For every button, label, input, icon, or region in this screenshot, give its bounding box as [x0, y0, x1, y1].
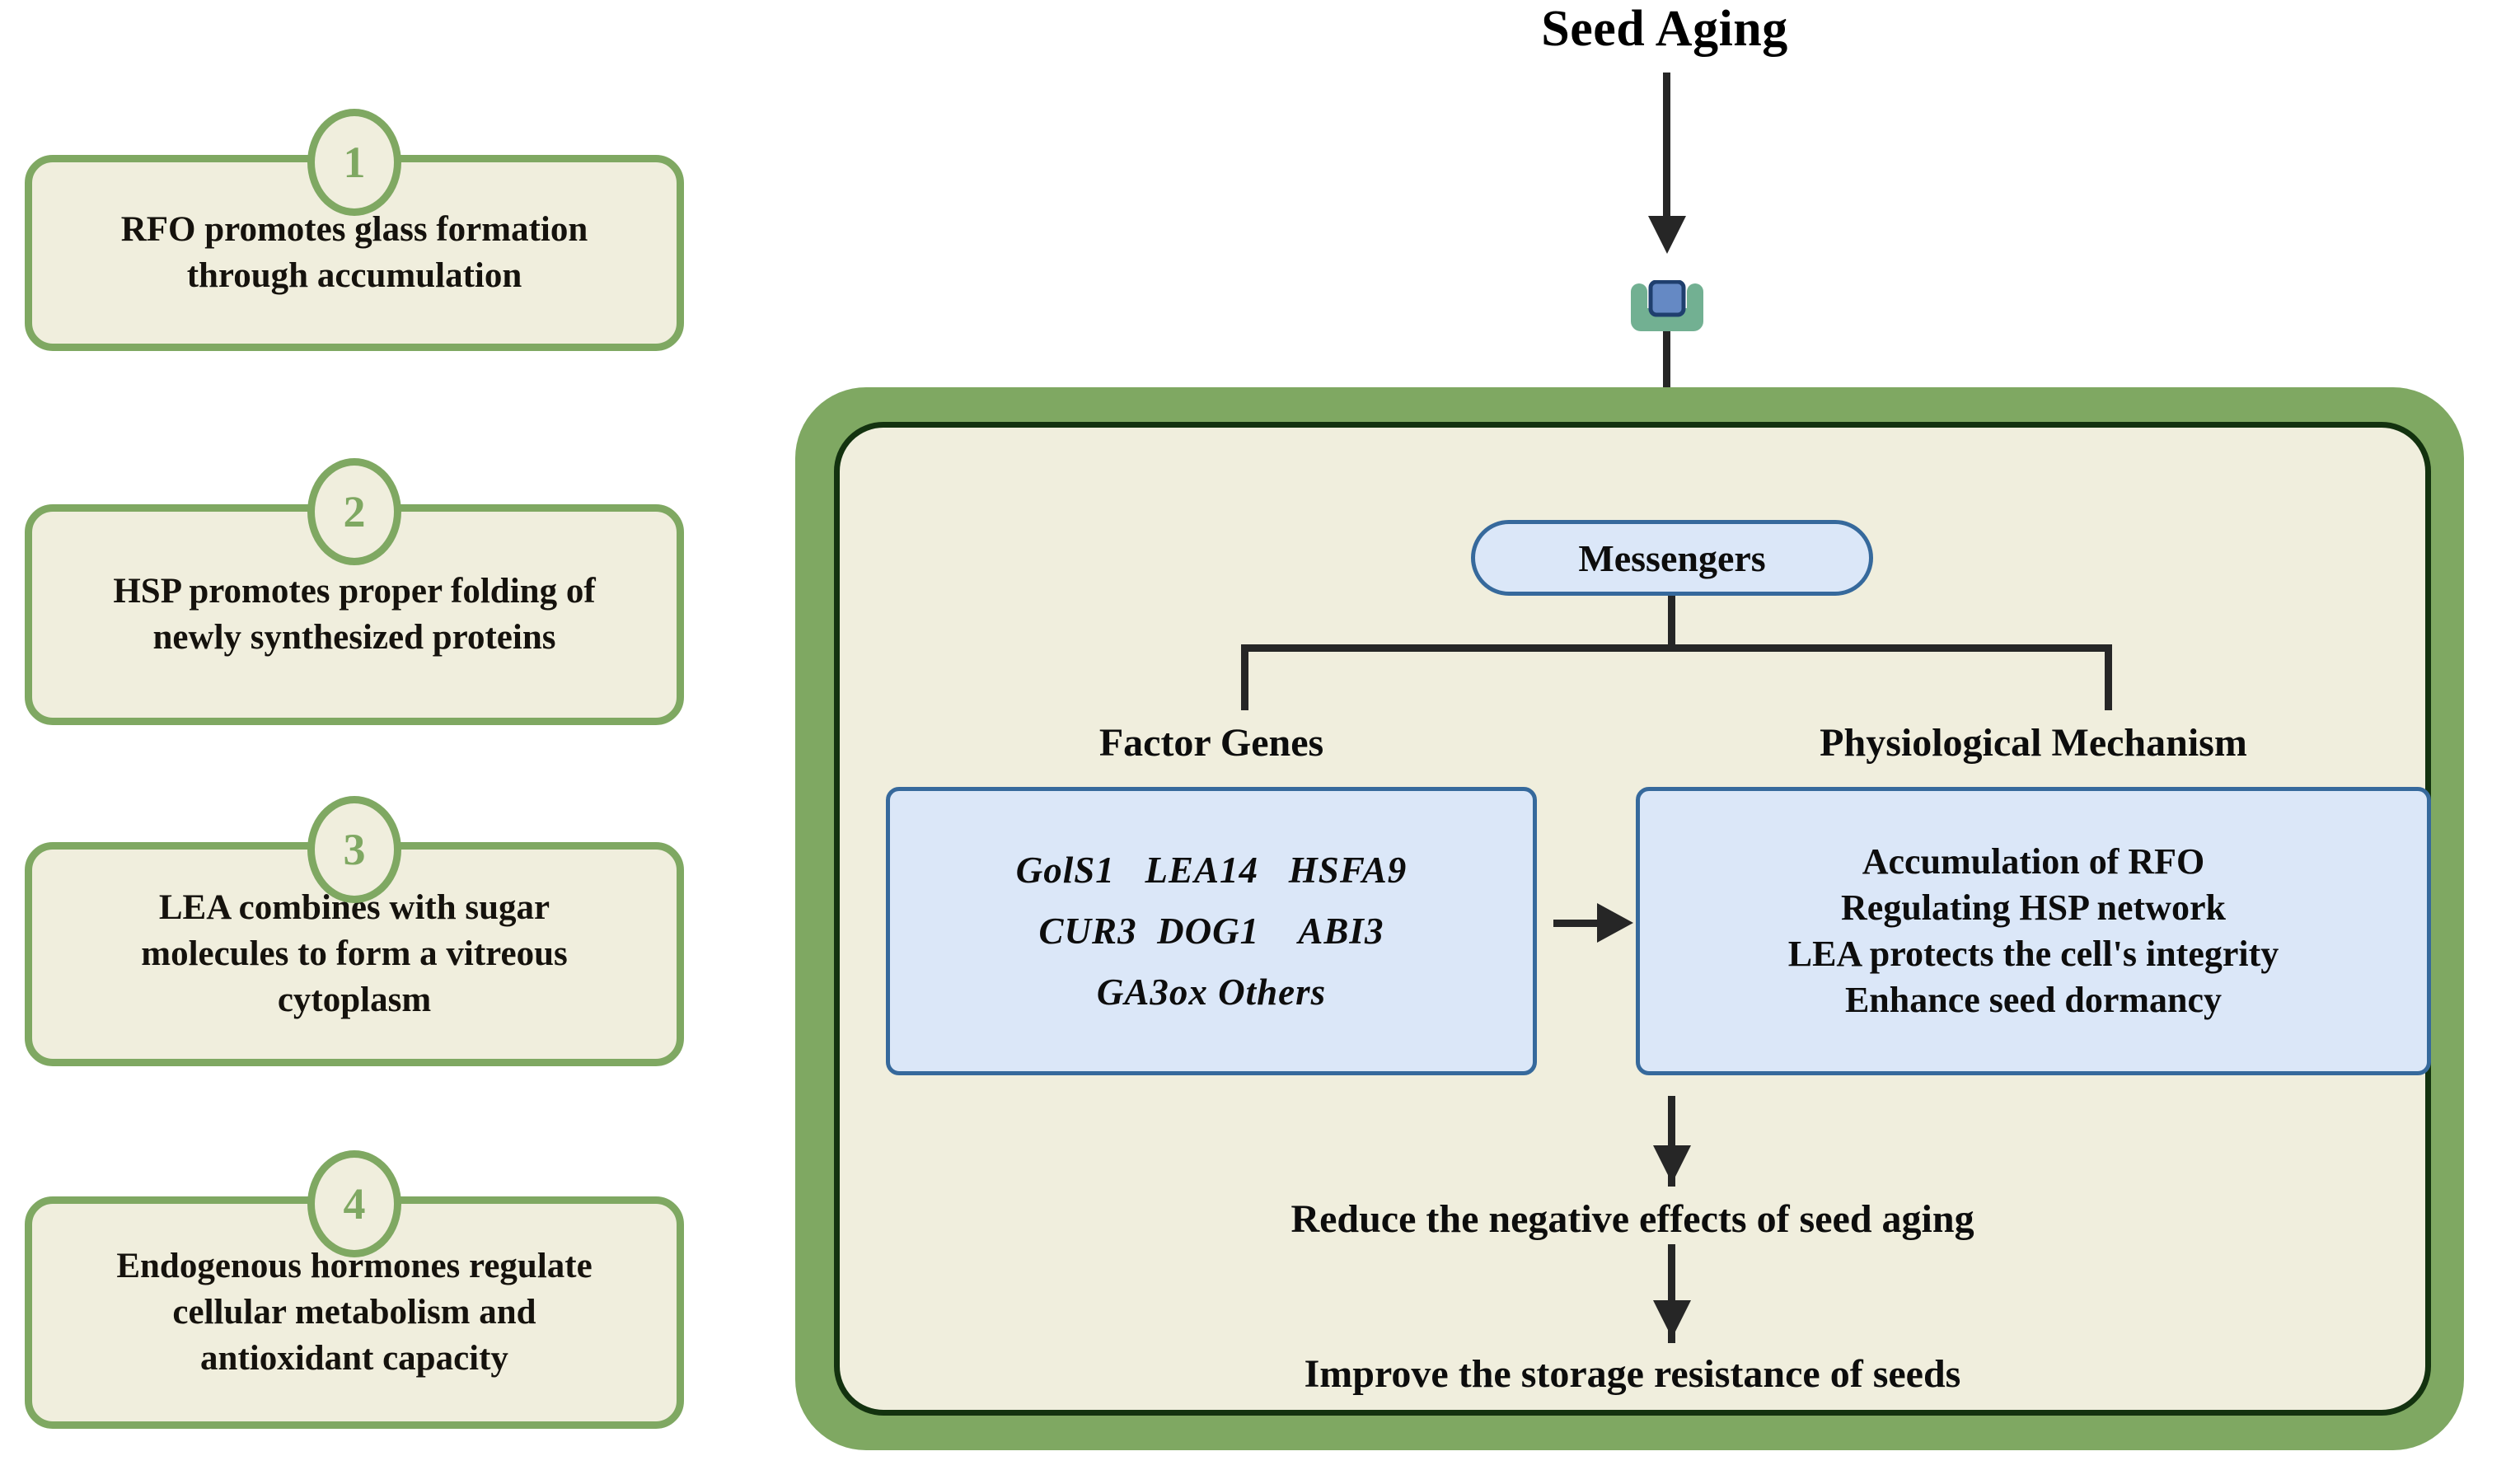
- branch-right-drop: [2105, 644, 2112, 710]
- outcome1-to-outcome2-head: [1653, 1300, 1691, 1338]
- mechanism-row: Regulating HSP network: [1841, 887, 2226, 929]
- mechanism-row: Accumulation of RFO: [1862, 840, 2205, 883]
- factor-genes-title: Factor Genes: [886, 720, 1537, 765]
- note-badge-3: 3: [307, 796, 401, 903]
- note-card-3: 3 LEA combines with sugar molecules to f…: [25, 842, 684, 1066]
- note-card-4: 4 Endogenous hormones regulate cellular …: [25, 1196, 684, 1429]
- factor-genes-box: GolS1 LEA14 HSFA9 CUR3 DOG1 ABI3 GA3ox O…: [886, 787, 1537, 1075]
- page-title: Seed Aging: [1459, 0, 1871, 59]
- seed-aging-arrow-head: [1648, 216, 1686, 254]
- seed-aging-arrow-shaft: [1663, 73, 1670, 221]
- messengers-node[interactable]: Messengers: [1471, 520, 1873, 596]
- note-text-2: HSP promotes proper folding of newly syn…: [91, 569, 616, 661]
- genes-to-mechanism-head: [1597, 903, 1633, 943]
- outcome-improve-storage: Improve the storage resistance of seeds: [834, 1351, 2431, 1397]
- gene-row: GolS1 LEA14 HSFA9: [1016, 849, 1407, 892]
- note-card-1: 1 RFO promotes glass formation through a…: [25, 155, 684, 351]
- note-text-1: RFO promotes glass formation through acc…: [100, 207, 610, 299]
- note-card-2: 2 HSP promotes proper folding of newly s…: [25, 504, 684, 725]
- branch-left-drop: [1241, 644, 1248, 710]
- outcome-reduce-aging: Reduce the negative effects of seed agin…: [834, 1196, 2431, 1242]
- note-text-3: LEA combines with sugar molecules to for…: [119, 885, 588, 1023]
- messengers-label: Messengers: [1578, 536, 1765, 580]
- mechanism-row: LEA protects the cell's integrity: [1788, 933, 2279, 976]
- mechanism-row: Enhance seed dormancy: [1845, 979, 2222, 1022]
- note-text-4: Endogenous hormones regulate cellular me…: [95, 1243, 613, 1382]
- gene-row: GA3ox Others: [1097, 971, 1326, 1014]
- note-badge-1: 1: [307, 109, 401, 216]
- gene-row: CUR3 DOG1 ABI3: [1039, 910, 1384, 953]
- membrane-receptor-icon: [1628, 280, 1707, 339]
- note-badge-2: 2: [307, 458, 401, 565]
- physiological-mechanism-box: Accumulation of RFO Regulating HSP netwo…: [1636, 787, 2431, 1075]
- physiological-mechanism-title: Physiological Mechanism: [1636, 720, 2431, 765]
- messengers-branch-stem: [1668, 596, 1675, 648]
- note-badge-4: 4: [307, 1150, 401, 1257]
- messengers-branch-bar: [1241, 644, 2112, 652]
- mechanism-to-outcome1-head: [1653, 1145, 1691, 1183]
